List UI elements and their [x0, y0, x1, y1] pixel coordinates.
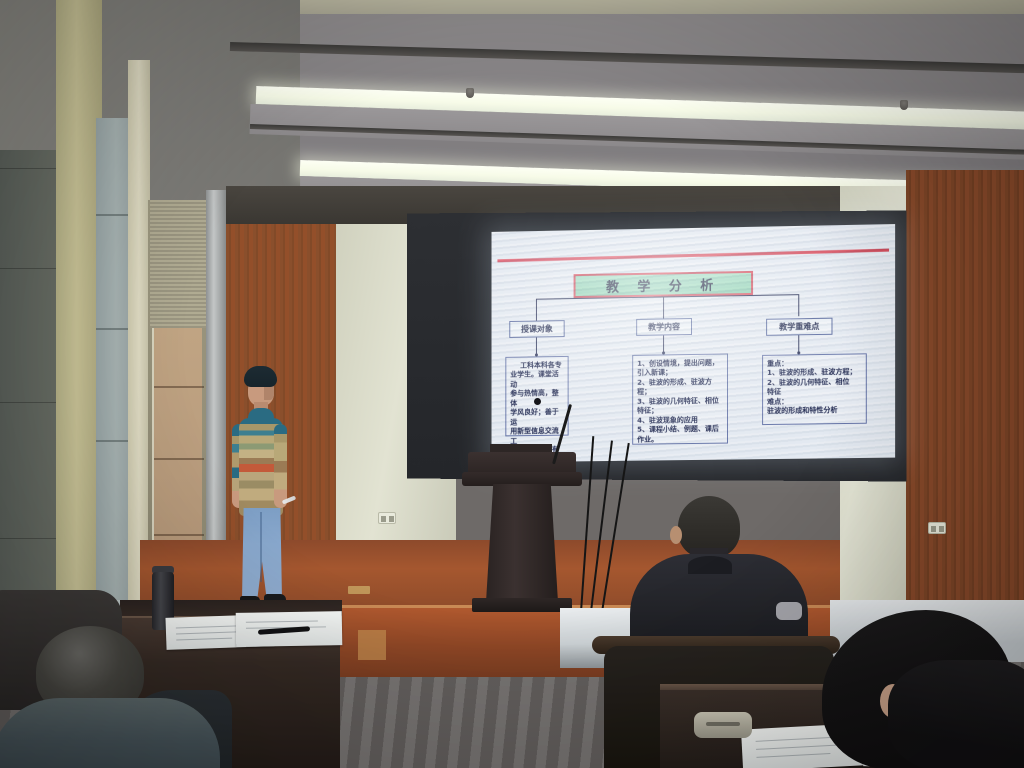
slide-teaching-analysis: 教 学 分 析 授课对象 教学内容 教学重难点 [492, 224, 896, 462]
slide-body-box-keypoints: 重点： 1、驻波的形成、驻波方程； 2、驻波的几何特征、相位 特征 难点： 驻波… [762, 353, 867, 425]
slide-header-box-2: 教学内容 [636, 318, 692, 336]
observer-left-vest [0, 698, 220, 768]
slide-body-line: 驻波的形成和特性分析 [767, 406, 863, 417]
slide-body-line: 2、驻波的形成、驻波方程； [637, 377, 724, 397]
floor-outlet-1[interactable] [348, 586, 370, 594]
beanie-hat-icon [244, 366, 277, 387]
evaluator-ear [670, 526, 682, 544]
eyeglass-case-bar [706, 722, 740, 726]
lectern-podium[interactable] [468, 452, 576, 622]
presenter-arm-right [274, 424, 287, 508]
slide-body-line: 2、驻波的几何特征、相位 [767, 377, 863, 388]
slide-body-box-content: 1、创设情境，提出问题， 引入新课； 2、驻波的形成、驻波方程； 3、驻波的几何… [632, 353, 728, 444]
observer-right-hair-front [888, 660, 1024, 768]
power-outlet-left[interactable] [378, 512, 396, 524]
slide-header-label-2: 教学内容 [648, 321, 680, 333]
connector-to-header-1 [536, 299, 537, 321]
slide-header-box-1: 授课对象 [509, 320, 564, 338]
slide-header-label-1: 授课对象 [521, 323, 553, 334]
stage-front-inset [358, 630, 386, 660]
slide-top-rule [497, 249, 889, 263]
slide-body-line: 作业。 [637, 434, 724, 445]
podium-ledge [462, 472, 582, 486]
projection-screen[interactable]: 教 学 分 析 授课对象 教学内容 教学重难点 [492, 224, 896, 462]
eyeglass-case[interactable] [694, 712, 752, 738]
slide-header-box-3: 教学重难点 [766, 318, 832, 336]
slide-body-line: 5、课程小结、例题、课后 [637, 425, 724, 436]
sprinkler-head-1 [466, 88, 474, 98]
podium-column [486, 484, 558, 602]
observer-gray-vest[interactable] [0, 620, 210, 768]
observer-long-hair[interactable] [822, 600, 1024, 768]
slide-body-line: 业学生。课堂活动 [510, 370, 564, 390]
connector-to-header-3 [798, 294, 799, 316]
slide-title: 教 学 分 析 [606, 274, 720, 295]
evaluator-hand [776, 602, 802, 620]
slide-header-label-3: 教学重难点 [779, 321, 819, 333]
presenter-standing[interactable] [228, 362, 292, 614]
lecture-hall-scene: /* structural only */ 教 [0, 0, 1024, 768]
evaluator-collar [688, 556, 732, 574]
sprinkler-head-2 [900, 100, 908, 110]
slide-body-line: 3、驻波的几何特征、相位 [637, 396, 724, 407]
slide-body-line: 学风良好；善于运 [510, 408, 564, 428]
wood-wall-panel-right [906, 170, 1024, 610]
presenter-jeans [242, 508, 282, 600]
microphone-head-icon [534, 398, 541, 405]
ventilation-louver [150, 200, 206, 328]
slide-title-box: 教 学 分 析 [574, 271, 753, 298]
connector-to-header-2 [663, 296, 664, 318]
power-outlet-right[interactable] [928, 522, 946, 534]
evaluator-in-dark-suit[interactable] [630, 496, 810, 646]
presenter-jeans-seam [260, 512, 262, 582]
podium-base [472, 598, 572, 612]
slide-body-box-audience: 工科本科各专 业学生。课堂活动 参与热情高，整体 学风良好；善于运 用新型信息交… [505, 356, 568, 436]
